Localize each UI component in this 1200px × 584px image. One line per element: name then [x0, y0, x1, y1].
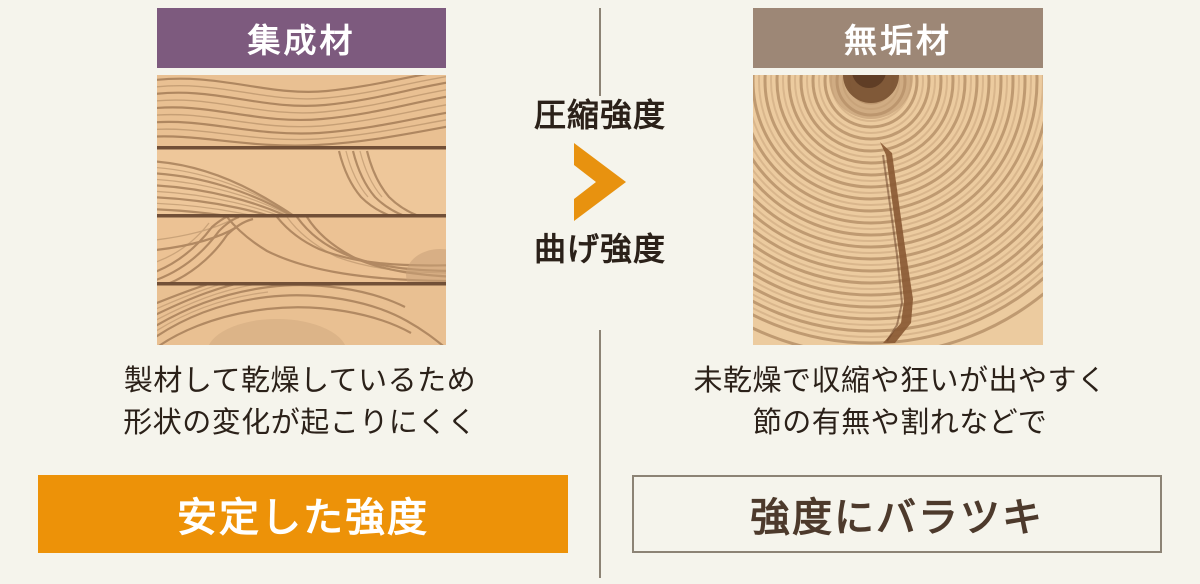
infographic-root: 集成材	[0, 0, 1200, 584]
glulam-description: 製材して乾燥しているため 形状の変化が起こりにくく	[30, 360, 570, 444]
comparison-bottom-label: 曲げ強度	[470, 230, 730, 268]
glulam-description-line-1: 製材して乾燥しているため	[30, 360, 570, 402]
column-header-glulam-label: 集成材	[248, 14, 356, 62]
solid-wood-image	[753, 75, 1043, 345]
glulam-conclusion-label: 安定した強度	[177, 485, 429, 543]
glulam-wood-image	[157, 75, 446, 345]
comparison-top-label: 圧縮強度	[470, 96, 730, 134]
greater-than-chevron-glyph	[564, 137, 636, 227]
greater-than-chevron-icon	[470, 134, 730, 230]
solid-wood-conclusion-label: 強度にバラツキ	[750, 485, 1044, 543]
column-header-solid-wood: 無垢材	[753, 8, 1043, 68]
solid-wood-description-line-2: 節の有無や割れなどで	[630, 402, 1170, 444]
solid-wood-description: 未乾燥で収縮や狂いが出やすく 節の有無や割れなどで	[630, 360, 1170, 444]
comparison-block: 圧縮強度 曲げ強度	[470, 96, 730, 269]
solid-wood-conclusion-box: 強度にバラツキ	[632, 475, 1162, 553]
glulam-wood-illustration	[157, 75, 446, 345]
glulam-description-line-2: 形状の変化が起こりにくく	[30, 402, 570, 444]
column-header-glulam: 集成材	[157, 8, 446, 68]
solid-wood-illustration	[753, 75, 1043, 345]
glulam-conclusion-box: 安定した強度	[38, 475, 568, 553]
column-divider-top	[599, 8, 601, 96]
solid-wood-description-line-1: 未乾燥で収縮や狂いが出やすく	[630, 360, 1170, 402]
column-header-solid-wood-label: 無垢材	[844, 14, 952, 62]
column-divider-bottom	[599, 330, 601, 578]
